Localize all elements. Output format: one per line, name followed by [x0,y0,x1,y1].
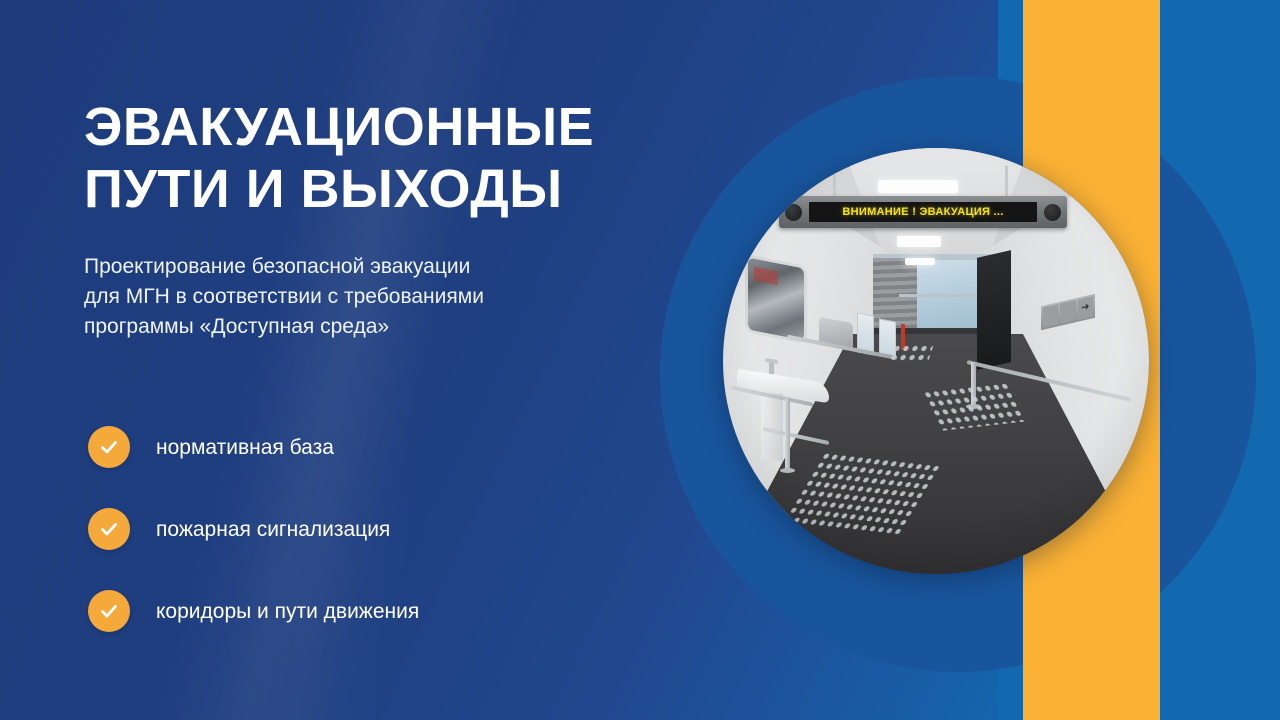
title-line-2: ПУТИ И ВЫХОДЫ [84,158,644,220]
list-item[interactable]: коридоры и пути движения [88,589,608,633]
list-item-label: коридоры и пути движения [156,601,419,622]
slide-content: ЭВАКУАЦИОННЫЕ ПУТИ И ВЫХОДЫ Проектирован… [0,0,660,720]
slide-title: ЭВАКУАЦИОННЫЕ ПУТИ И ВЫХОДЫ [84,96,644,220]
slide-subtitle: Проектирование безопасной эвакуации для … [84,252,614,342]
list-item-label: пожарная сигнализация [156,519,390,540]
title-line-1: ЭВАКУАЦИОННЫЕ [84,96,644,158]
subtitle-line-1: Проектирование безопасной эвакуации [84,252,614,282]
check-icon [88,590,130,632]
subtitle-line-2: для МГН в соответствии с требованиями [84,282,614,312]
check-icon [88,426,130,468]
photo-vignette [723,148,1149,574]
presentation-slide: ВНИМАНИЕ ! ЭВАКУАЦИЯ ... ➜ [0,0,1280,720]
subtitle-line-3: программы «Доступная среда» [84,312,614,342]
list-item-label: нормативная база [156,437,334,458]
check-icon [88,508,130,550]
list-item[interactable]: пожарная сигнализация [88,507,608,551]
accessible-corridor-photo: ВНИМАНИЕ ! ЭВАКУАЦИЯ ... ➜ [723,148,1149,574]
list-item[interactable]: нормативная база [88,425,608,469]
feature-list: нормативная база пожарная сигнализация к… [88,425,608,671]
